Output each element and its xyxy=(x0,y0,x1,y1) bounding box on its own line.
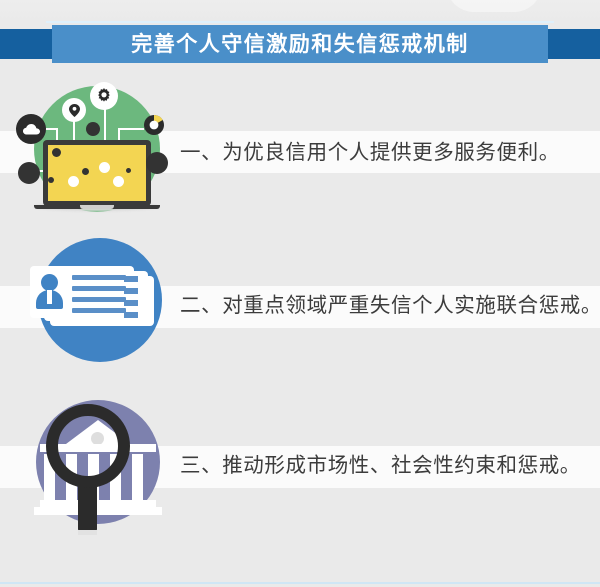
card-text-line xyxy=(72,286,126,291)
gear-bubble xyxy=(90,82,118,110)
avatar-head xyxy=(41,274,58,291)
laptop-data-network-icon xyxy=(12,80,172,228)
infographic-poster: 完善个人守信激励和失信惩戒机制 xyxy=(0,0,600,587)
connector-line xyxy=(118,128,144,130)
id-card-icon xyxy=(20,232,170,380)
card-edge-tab xyxy=(124,312,138,318)
card-text-line xyxy=(72,297,126,302)
data-node-dot xyxy=(82,168,89,175)
data-node-dot xyxy=(48,177,54,183)
bank-magnifier-icon xyxy=(20,392,172,542)
magnifier-handle-tip xyxy=(78,530,97,535)
location-pin-icon xyxy=(69,104,80,117)
card-edge-tab xyxy=(124,300,138,306)
gear-icon xyxy=(96,88,112,104)
list-item: 三、推动形成市场性、社会性约束和惩戒。 xyxy=(0,392,600,540)
text-cell-3: 三、推动形成市场性、社会性约束和惩戒。 xyxy=(180,454,600,479)
cloud-icon xyxy=(23,124,40,135)
cloud-bubble xyxy=(16,114,46,144)
data-node-dot xyxy=(52,148,61,157)
icon-cell-3 xyxy=(0,392,180,540)
list-item-text: 二、对重点领域严重失信个人实施联合惩戒。 xyxy=(180,294,600,319)
list-item: 二、对重点领域严重失信个人实施联合惩戒。 xyxy=(0,236,600,376)
top-hairline-divider xyxy=(46,21,554,23)
data-node-dot xyxy=(86,122,100,136)
donut-chart-bubble xyxy=(141,112,167,138)
data-node-dot xyxy=(113,176,124,187)
data-node-dot xyxy=(126,168,131,173)
building-column xyxy=(132,454,143,500)
avatar-collar xyxy=(47,290,52,304)
text-cell-2: 二、对重点领域严重失信个人实施联合惩戒。 xyxy=(180,294,600,319)
node-dot-large xyxy=(18,162,40,184)
header-banner: 完善个人守信激励和失信惩戒机制 xyxy=(0,25,600,63)
id-card-front xyxy=(30,266,134,318)
page-title: 完善个人守信激励和失信惩戒机制 xyxy=(131,34,469,55)
list-item-text: 三、推动形成市场性、社会性约束和惩戒。 xyxy=(180,454,588,479)
text-cell-1: 一、为优良信用个人提供更多服务便利。 xyxy=(180,141,600,166)
data-node-dot xyxy=(99,162,110,173)
node-dot-large xyxy=(146,152,168,174)
card-edge-tab xyxy=(124,288,138,294)
magnifier-lens-ring xyxy=(46,404,130,488)
list-item-text: 一、为优良信用个人提供更多服务便利。 xyxy=(180,141,588,166)
laptop-notch xyxy=(80,205,114,209)
icon-cell-1 xyxy=(0,78,180,228)
building-base-lower xyxy=(34,507,162,515)
banner-main-band: 完善个人守信激励和失信惩戒机制 xyxy=(52,25,548,63)
data-node-dot xyxy=(68,176,79,187)
list-item: 一、为优良信用个人提供更多服务便利。 xyxy=(0,78,600,228)
magnifier-handle xyxy=(78,484,97,532)
bottom-hairline-divider xyxy=(0,582,600,584)
card-text-line xyxy=(72,308,126,313)
laptop-screen xyxy=(48,145,146,201)
card-text-line xyxy=(72,275,126,280)
donut-chart-icon xyxy=(142,113,166,137)
location-pin-bubble xyxy=(62,98,86,122)
card-edge-tab xyxy=(124,276,138,282)
icon-cell-2 xyxy=(0,236,180,376)
building-base-upper xyxy=(40,500,156,507)
